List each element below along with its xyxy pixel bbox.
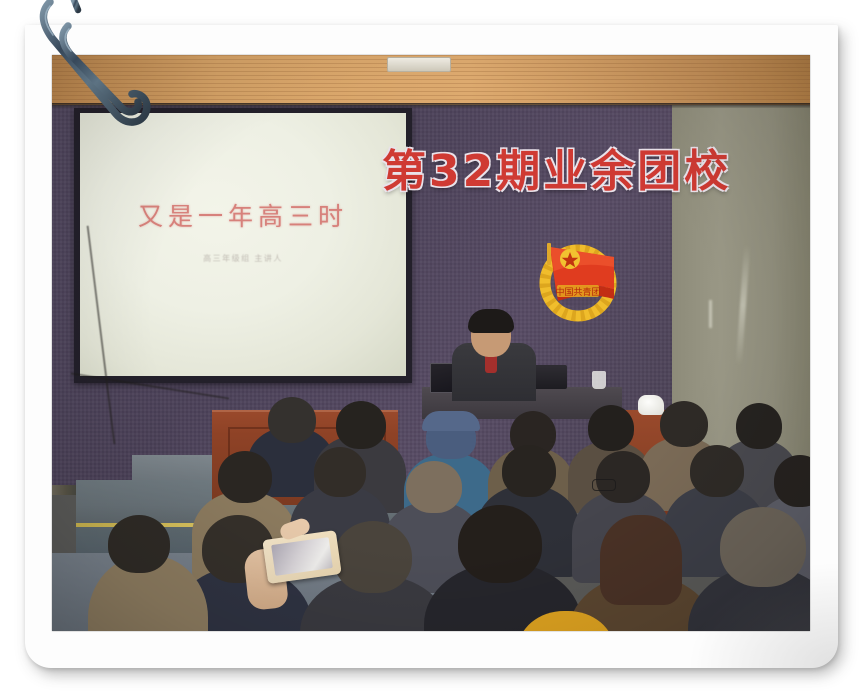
audience-member	[218, 451, 272, 503]
tissue-box	[638, 395, 664, 415]
cup	[592, 371, 606, 389]
photo-frame: 又是一年高三时 高三年级组 主讲人 第32期业余团校	[25, 25, 838, 668]
communist-youth-league-emblem: 中国共青团	[530, 227, 626, 323]
slide-subtitle: 高三年级组 主讲人	[80, 253, 406, 264]
audience-member	[406, 461, 462, 513]
presenter-hair	[468, 309, 514, 333]
screenshot-canvas: 又是一年高三时 高三年级组 主讲人 第32期业余团校	[0, 0, 867, 693]
audience-member	[314, 447, 366, 497]
audience-member	[268, 397, 316, 443]
projection-screen-frame: 又是一年高三时 高三年级组 主讲人	[74, 108, 412, 383]
audience-member	[660, 401, 708, 447]
eyeglasses-icon	[592, 479, 616, 491]
photograph: 又是一年高三时 高三年级组 主讲人 第32期业余团校	[52, 55, 810, 631]
audience-member	[334, 521, 412, 593]
audience-member-long-hair	[600, 515, 682, 605]
audience-member	[336, 401, 386, 449]
audience-member	[736, 403, 782, 449]
audience-member	[690, 445, 744, 497]
svg-text:中国共青团: 中国共青团	[555, 286, 600, 298]
ceiling-light-fixture	[387, 57, 451, 72]
audience-member	[502, 445, 556, 497]
audience-member	[108, 515, 170, 573]
audience-member	[588, 405, 634, 451]
wall-streak	[709, 300, 712, 328]
audience-member-with-glasses	[596, 451, 650, 503]
audience-member	[720, 507, 806, 587]
slide-title: 又是一年高三时	[80, 197, 406, 233]
flat-cap-icon	[422, 411, 480, 431]
event-banner-text: 第32期业余团校	[382, 135, 731, 199]
projection-screen: 又是一年高三时 高三年级组 主讲人	[80, 113, 406, 376]
audience-member	[458, 505, 542, 583]
